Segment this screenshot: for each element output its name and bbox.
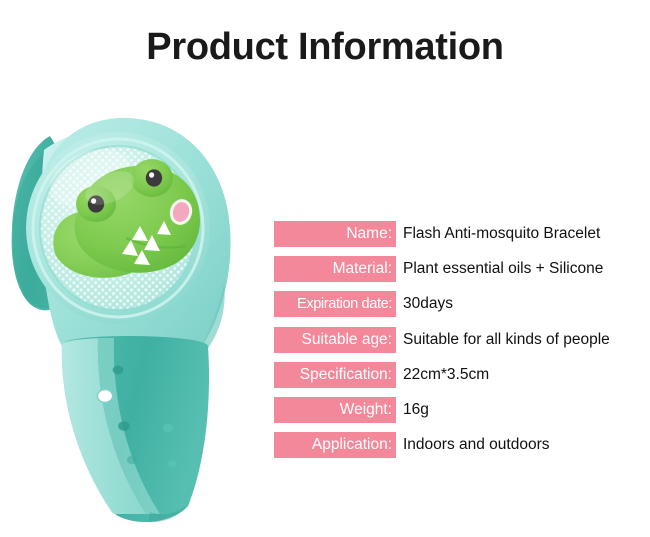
spec-label-application: Application: [274, 432, 396, 458]
table-row: Name: Flash Anti-mosquito Bracelet [274, 218, 650, 253]
table-row: Specification: 22cm*3.5cm [274, 359, 650, 394]
spec-value-expiration-date: 30days [403, 291, 453, 317]
spec-label-material: Material: [274, 256, 396, 282]
spec-value-suitable-age: Suitable for all kinds of people [403, 327, 610, 353]
spec-value-material: Plant essential oils + Silicone [403, 256, 603, 282]
spec-label-expiration-date: Expiration date: [274, 291, 396, 317]
product-information-page: Product Information [0, 0, 650, 537]
table-row: Expiration date: 30days [274, 288, 650, 323]
spec-table: Name: Flash Anti-mosquito Bracelet Mater… [274, 218, 650, 464]
product-image [0, 108, 262, 528]
spec-value-application: Indoors and outdoors [403, 432, 550, 458]
spec-label-name: Name: [274, 221, 396, 247]
spec-label-weight: Weight: [274, 397, 396, 423]
table-row: Application: Indoors and outdoors [274, 429, 650, 464]
page-title: Product Information [0, 26, 650, 69]
table-row: Suitable age: Suitable for all kinds of … [274, 324, 650, 359]
spec-value-weight: 16g [403, 397, 429, 423]
spec-label-suitable-age: Suitable age: [274, 327, 396, 353]
crocodile-eye-right [146, 169, 162, 186]
spec-value-name: Flash Anti-mosquito Bracelet [403, 221, 600, 247]
strap-band [58, 336, 209, 522]
table-row: Weight: 16g [274, 394, 650, 429]
spec-value-specification: 22cm*3.5cm [403, 362, 489, 388]
spec-label-specification: Specification: [274, 362, 396, 388]
table-row: Material: Plant essential oils + Silicon… [274, 253, 650, 288]
